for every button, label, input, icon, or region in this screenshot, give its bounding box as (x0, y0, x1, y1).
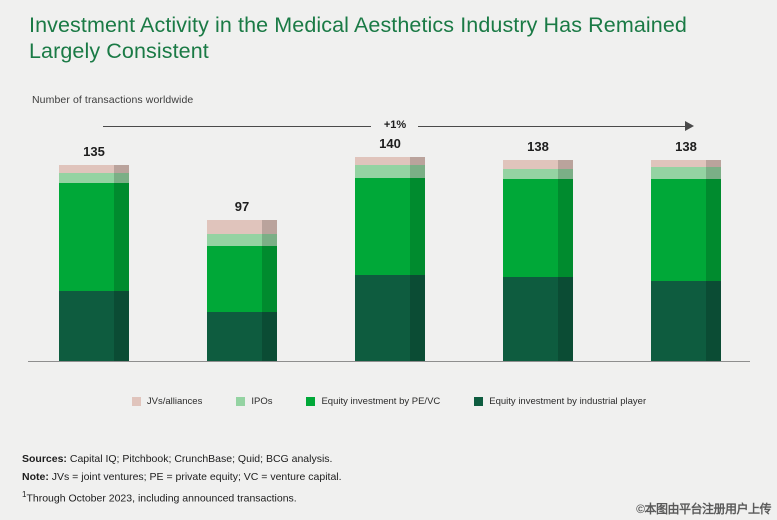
bar-value-label: 97 (190, 199, 294, 214)
bar-segment[interactable] (355, 275, 425, 361)
bar-segment[interactable] (651, 160, 721, 167)
footnote-note-text: JVs = joint ventures; PE = private equit… (49, 471, 342, 483)
bar-segment[interactable] (503, 277, 573, 361)
bar-stack[interactable] (207, 220, 277, 361)
legend-label: JVs/alliances (147, 396, 202, 407)
footnote-note: Note: JVs = joint ventures; PE = private… (22, 469, 582, 487)
footnote-one: 1Through October 2023, including announc… (22, 486, 582, 508)
legend-swatch-icon (236, 397, 245, 406)
bar-segment[interactable] (59, 173, 129, 183)
legend-swatch-icon (306, 397, 315, 406)
x-axis-line (28, 361, 750, 362)
bar-segment[interactable] (207, 246, 277, 311)
bar-segment[interactable] (59, 165, 129, 174)
cagr-line-left (103, 126, 371, 127)
bar-segment[interactable] (207, 220, 277, 235)
cagr-annotation: +1% (103, 117, 693, 137)
bar-segment[interactable] (207, 312, 277, 361)
legend-label: IPOs (251, 396, 272, 407)
bar-segment[interactable] (651, 281, 721, 361)
bar-segment[interactable] (503, 160, 573, 169)
footnote-sources-label: Sources: (22, 453, 67, 465)
bar-stack[interactable] (355, 157, 425, 361)
page-title: Investment Activity in the Medical Aesth… (29, 12, 744, 64)
legend-item[interactable]: IPOs (236, 396, 272, 407)
legend-item[interactable]: Equity investment by industrial player (474, 396, 646, 407)
legend-item[interactable]: JVs/alliances (132, 396, 202, 407)
bar-segment[interactable] (503, 179, 573, 276)
chart-legend: JVs/alliancesIPOsEquity investment by PE… (28, 396, 750, 407)
bar-segment[interactable] (651, 179, 721, 281)
slide-canvas: Investment Activity in the Medical Aesth… (0, 0, 777, 520)
watermark: ©本图由平台注册用户上传 (636, 500, 771, 517)
cagr-value: +1% (373, 119, 417, 131)
legend-label: Equity investment by industrial player (489, 396, 646, 407)
footnote-note-label: Note: (22, 471, 49, 483)
footnote-sources-text: Capital IQ; Pitchbook; CrunchBase; Quid;… (67, 453, 333, 465)
bar-segment[interactable] (207, 234, 277, 246)
legend-swatch-icon (474, 397, 483, 406)
bar-segment[interactable] (651, 167, 721, 179)
legend-item[interactable]: Equity investment by PE/VC (306, 396, 440, 407)
legend-swatch-icon (132, 397, 141, 406)
bar-chart-plot: 1352019972020140202113820221382023 (YTD)… (28, 150, 750, 362)
bar-stack[interactable] (503, 160, 573, 361)
bar-value-label: 138 (634, 139, 738, 154)
bar-value-label: 135 (42, 144, 146, 159)
bar-segment[interactable] (355, 178, 425, 275)
bar-stack[interactable] (59, 165, 129, 361)
bar-value-label: 138 (486, 139, 590, 154)
bar-value-label: 140 (338, 136, 442, 151)
chart-subtitle: Number of transactions worldwide (32, 94, 193, 106)
legend-label: Equity investment by PE/VC (321, 396, 440, 407)
bar-segment[interactable] (59, 183, 129, 291)
bar-segment[interactable] (59, 291, 129, 361)
footnotes-block: Sources: Capital IQ; Pitchbook; CrunchBa… (22, 451, 582, 508)
arrow-right-icon (685, 121, 694, 131)
bar-segment[interactable] (355, 157, 425, 164)
bar-segment[interactable] (355, 165, 425, 178)
footnote-sources: Sources: Capital IQ; Pitchbook; CrunchBa… (22, 451, 582, 469)
bar-segment[interactable] (503, 169, 573, 179)
cagr-line-right (418, 126, 686, 127)
bar-stack[interactable] (651, 160, 721, 361)
footnote-one-text: Through October 2023, including announce… (26, 493, 296, 505)
